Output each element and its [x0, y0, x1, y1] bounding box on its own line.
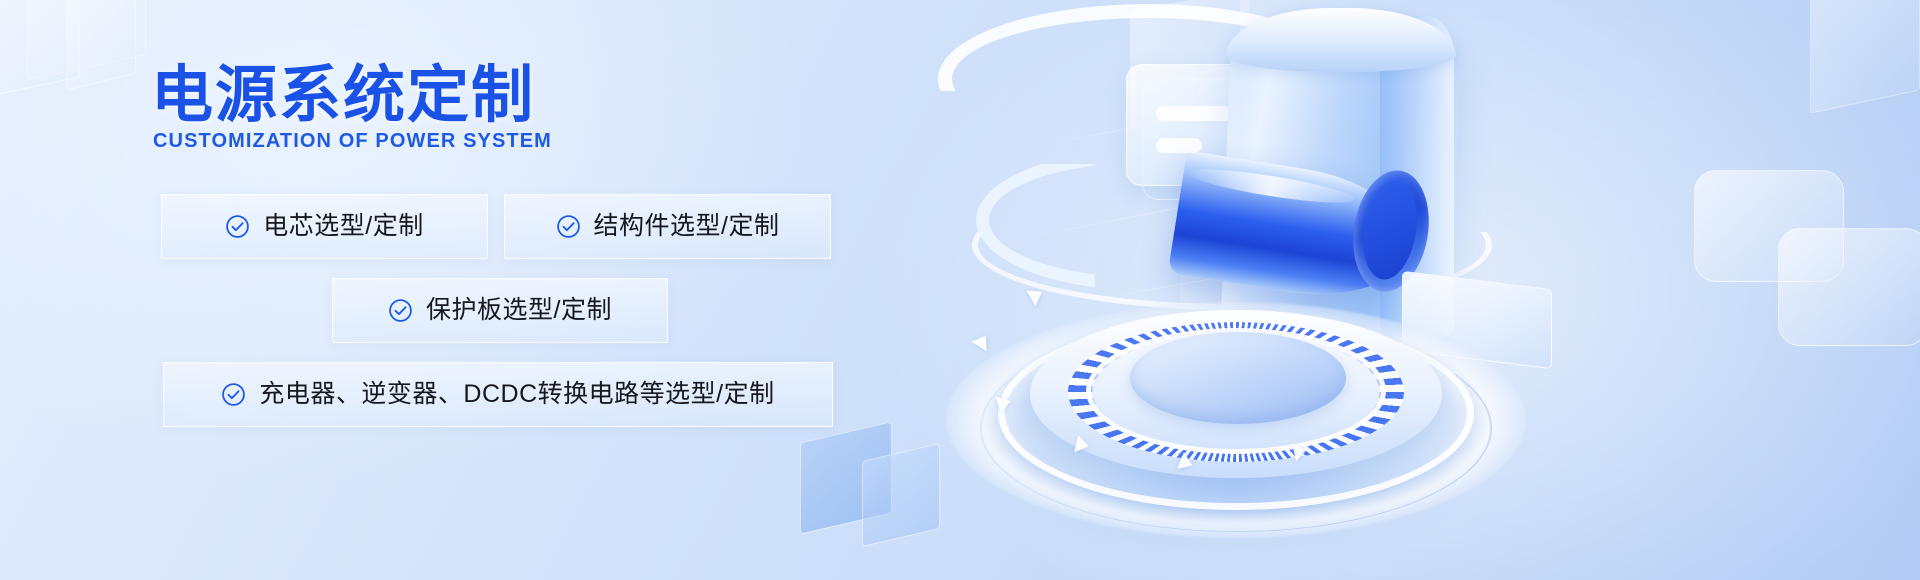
arrow-marker-icon	[971, 331, 993, 352]
feature-box-cell[interactable]: 结构件选型/定制	[504, 194, 831, 259]
feature-label: 保护板选型/定制	[426, 298, 612, 323]
feature-box-cell[interactable]: 电芯选型/定制	[161, 194, 488, 259]
page-subtitle: CUSTOMIZATION OF POWER SYSTEM	[153, 130, 552, 153]
card-line	[1156, 106, 1232, 121]
feature-box-cell[interactable]: 保护板选型/定制	[332, 278, 668, 343]
check-circle-icon	[225, 214, 250, 239]
feature-label: 结构件选型/定制	[594, 214, 780, 239]
check-circle-icon	[221, 382, 246, 407]
3d-power-system-illustration	[880, 0, 1920, 580]
card-line	[1156, 138, 1202, 153]
turbine-top-plate	[1130, 332, 1346, 424]
power-system-banner: 电源系统定制 CUSTOMIZATION OF POWER SYSTEM 电芯选…	[0, 0, 1920, 580]
check-circle-icon	[556, 214, 581, 239]
feature-label: 充电器、逆变器、DCDC转换电路等选型/定制	[259, 382, 774, 407]
check-circle-icon	[388, 298, 413, 323]
feature-label: 电芯选型/定制	[263, 214, 423, 239]
banner-content: 电源系统定制 CUSTOMIZATION OF POWER SYSTEM 电芯选…	[0, 0, 900, 580]
feature-box-cell[interactable]: 充电器、逆变器、DCDC转换电路等选型/定制	[163, 362, 833, 427]
page-title: 电源系统定制	[151, 44, 535, 134]
